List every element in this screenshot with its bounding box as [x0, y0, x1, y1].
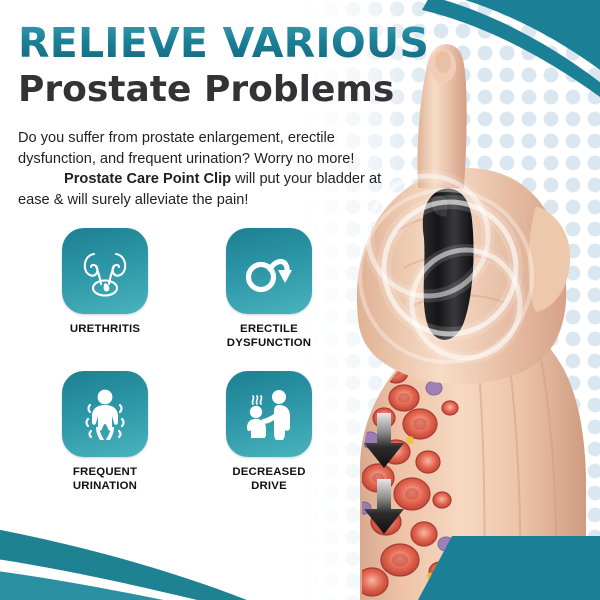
feature-label: URETHRITIS [70, 323, 140, 337]
feature-label: DECREASED DRIVE [232, 466, 305, 493]
down-arrow-icon [362, 479, 406, 535]
feature-decreased-drive[interactable]: DECREASED DRIVE [216, 371, 322, 493]
feature-urethritis[interactable]: URETHRITIS [52, 228, 158, 350]
body-sentence-1: Do you suffer from prostate enlargement,… [18, 130, 354, 167]
couple-low-libido-icon [241, 386, 297, 442]
body-copy: Do you suffer from prostate enlargement,… [18, 128, 386, 211]
feature-frequent-urination[interactable]: FREQUENT URINATION [52, 371, 158, 493]
down-arrows-group [362, 413, 406, 535]
feature-icon-box [62, 371, 148, 457]
feature-row-1: URETHRITIS ERECTILE DYSFUNCTION [52, 228, 322, 350]
bottom-left-swoosh [0, 514, 250, 600]
feature-icon-box [62, 228, 148, 314]
kidneys-bladder-icon [77, 243, 133, 299]
feature-label: FREQUENT URINATION [73, 466, 137, 493]
male-symbol-drooping-arrow-icon [241, 243, 297, 299]
feature-row-2: FREQUENT URINATION [52, 371, 322, 493]
down-arrow-icon [362, 413, 406, 469]
feature-icon-box [226, 371, 312, 457]
headline-secondary: Prostate Problems [18, 72, 394, 108]
feature-grid: URETHRITIS ERECTILE DYSFUNCTION [52, 228, 322, 494]
person-crossing-legs-icon [77, 386, 133, 442]
advertisement-canvas: RELIEVE VARIOUS Prostate Problems Do you… [0, 0, 600, 600]
feature-icon-box [226, 228, 312, 314]
headline-primary: RELIEVE VARIOUS [18, 23, 429, 64]
product-name: Prostate Care Point Clip [64, 171, 231, 187]
feature-erectile-dysfunction[interactable]: ERECTILE DYSFUNCTION [216, 228, 322, 350]
feature-label: ERECTILE DYSFUNCTION [227, 323, 311, 350]
